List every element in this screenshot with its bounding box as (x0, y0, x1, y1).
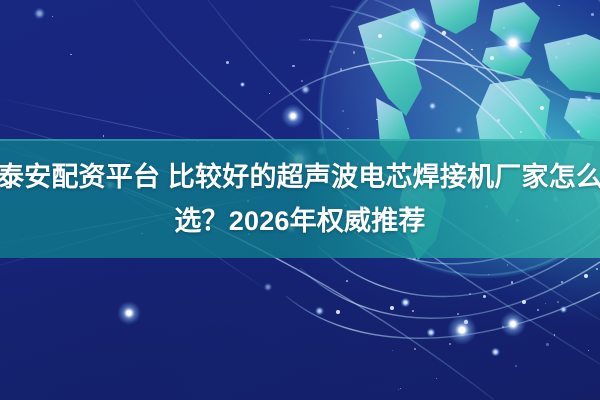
particle-dot (392, 350, 393, 351)
particle-dot (70, 54, 71, 55)
particle-dot (491, 348, 499, 356)
particle-dot (483, 295, 486, 298)
particle-dot (427, 328, 436, 337)
particle-dot (226, 61, 229, 64)
particle-dot (103, 135, 105, 137)
particle-dot (240, 82, 246, 88)
particle-dot (588, 350, 589, 351)
particle-dot (436, 378, 437, 379)
particle-dot (52, 16, 53, 17)
particle-dot (457, 313, 459, 315)
particle-dot (537, 309, 539, 311)
particle-dot (292, 65, 294, 67)
particle-dot (264, 283, 272, 291)
particle-dot (315, 307, 323, 315)
particle-dot (412, 310, 414, 312)
particle-dot (401, 298, 410, 307)
particle-dot (546, 343, 549, 346)
particle-dot (554, 334, 556, 336)
particle-dot (414, 348, 416, 350)
particle-dot (400, 388, 401, 389)
particle-dot (502, 326, 504, 328)
particle-dot (515, 365, 517, 367)
particle-dot (34, 8, 45, 19)
particle-dot (465, 330, 466, 331)
promo-banner: 泰安配资平台 比较好的超声波电芯焊接机厂家怎么 选？2026年权威推荐 (0, 0, 600, 400)
headline-line-2: 选？2026年权威推荐 (174, 200, 425, 242)
particle-dot (269, 93, 271, 95)
particle-dot (301, 80, 303, 82)
headline-line-1: 泰安配资平台 比较好的超声波电芯焊接机厂家怎么 (0, 156, 600, 198)
particle-dot (346, 280, 348, 282)
particle-dot (449, 343, 451, 345)
particle-dot (309, 39, 310, 40)
particle-dot (398, 389, 399, 390)
particle-dot (301, 85, 310, 94)
particle-dot (469, 293, 471, 295)
page-title: 泰安配资平台 比较好的超声波电芯焊接机厂家怎么 选？2026年权威推荐 (0, 139, 600, 258)
